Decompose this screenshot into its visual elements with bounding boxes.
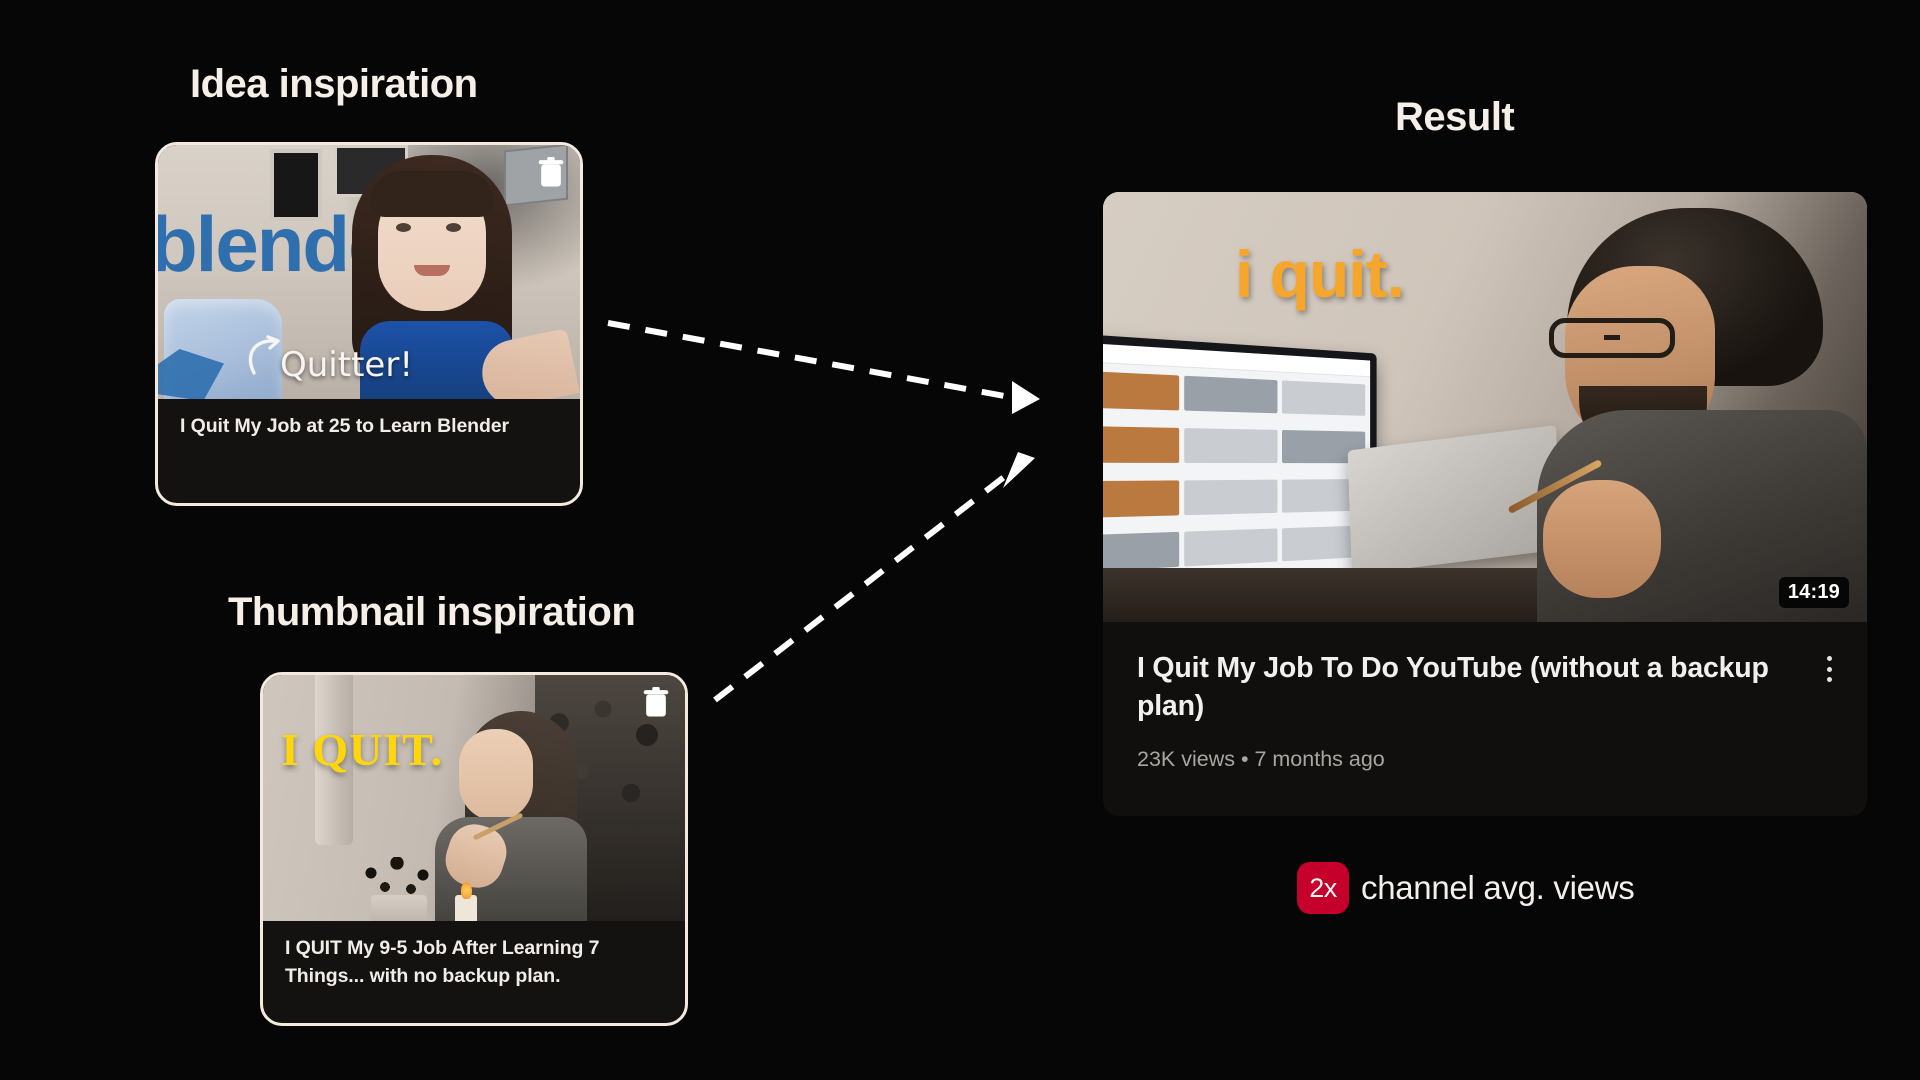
- result-video-thumbnail[interactable]: i quit.: [1103, 192, 1867, 622]
- heading-idea-inspiration: Idea inspiration: [190, 62, 478, 107]
- thumbnail-inspiration-thumbnail: I QUIT.: [263, 675, 685, 921]
- right-eye: [446, 223, 461, 232]
- mouth-shape: [414, 265, 450, 276]
- face-shape: [459, 729, 533, 821]
- screen-thumbnail-grid-decor: [1103, 371, 1365, 586]
- result-thumbnail-photo: i quit.: [1103, 192, 1867, 622]
- heading-thumbnail-inspiration: Thumbnail inspiration: [228, 590, 635, 635]
- left-eye: [396, 223, 411, 232]
- performance-callout: 2x channel avg. views: [1297, 862, 1634, 914]
- arm-shape: [1543, 480, 1661, 598]
- thumbnail-photo: I QUIT.: [263, 675, 685, 921]
- result-video-title: I Quit My Job To Do YouTube (without a b…: [1137, 650, 1777, 725]
- glasses-shape: [1549, 318, 1675, 358]
- idea-thumbnail-photo: blender Quitter!: [158, 145, 580, 399]
- monitor-decor: [1103, 333, 1377, 600]
- diagram-canvas: Idea inspiration Thumbnail inspiration R…: [0, 0, 1920, 1080]
- quitter-handwriting-overlay: Quitter!: [280, 345, 413, 385]
- trash-icon[interactable]: [536, 157, 566, 189]
- flame-decor: [461, 882, 472, 899]
- multiplier-badge: 2x: [1297, 862, 1349, 914]
- idea-inspiration-thumbnail: blender Quitter!: [158, 145, 580, 399]
- video-duration-badge: 14:19: [1779, 577, 1849, 608]
- creator-figure: [1467, 202, 1857, 622]
- pot-decor: [371, 895, 427, 921]
- i-quit-overlay-text: i quit.: [1235, 236, 1404, 312]
- monitor-screen-decor: [1103, 342, 1370, 590]
- kebab-menu-icon[interactable]: [1815, 652, 1843, 686]
- bangs-shape: [370, 171, 494, 217]
- backpack-logo-decor: [158, 349, 224, 399]
- thumbnail-to-result-arrow: [715, 452, 1035, 700]
- idea-inspiration-card[interactable]: blender Quitter!: [155, 142, 583, 506]
- screen-topbar-decor: [1103, 342, 1370, 377]
- heading-result: Result: [1395, 95, 1514, 140]
- result-video-meta: I Quit My Job To Do YouTube (without a b…: [1103, 622, 1867, 772]
- idea-inspiration-title: I Quit My Job at 25 to Learn Blender: [158, 399, 580, 441]
- performance-label: channel avg. views: [1361, 869, 1634, 907]
- trash-icon[interactable]: [641, 687, 671, 719]
- result-video-stats: 23K views • 7 months ago: [1137, 747, 1833, 772]
- handwritten-arrow-icon: [242, 335, 284, 383]
- result-video-card[interactable]: i quit.: [1103, 192, 1867, 816]
- idea-to-result-arrow: [608, 323, 1040, 414]
- thumbnail-inspiration-card[interactable]: I QUIT. I: [260, 672, 688, 1026]
- thumbnail-inspiration-title: I QUIT My 9-5 Job After Learning 7 Thing…: [263, 921, 685, 990]
